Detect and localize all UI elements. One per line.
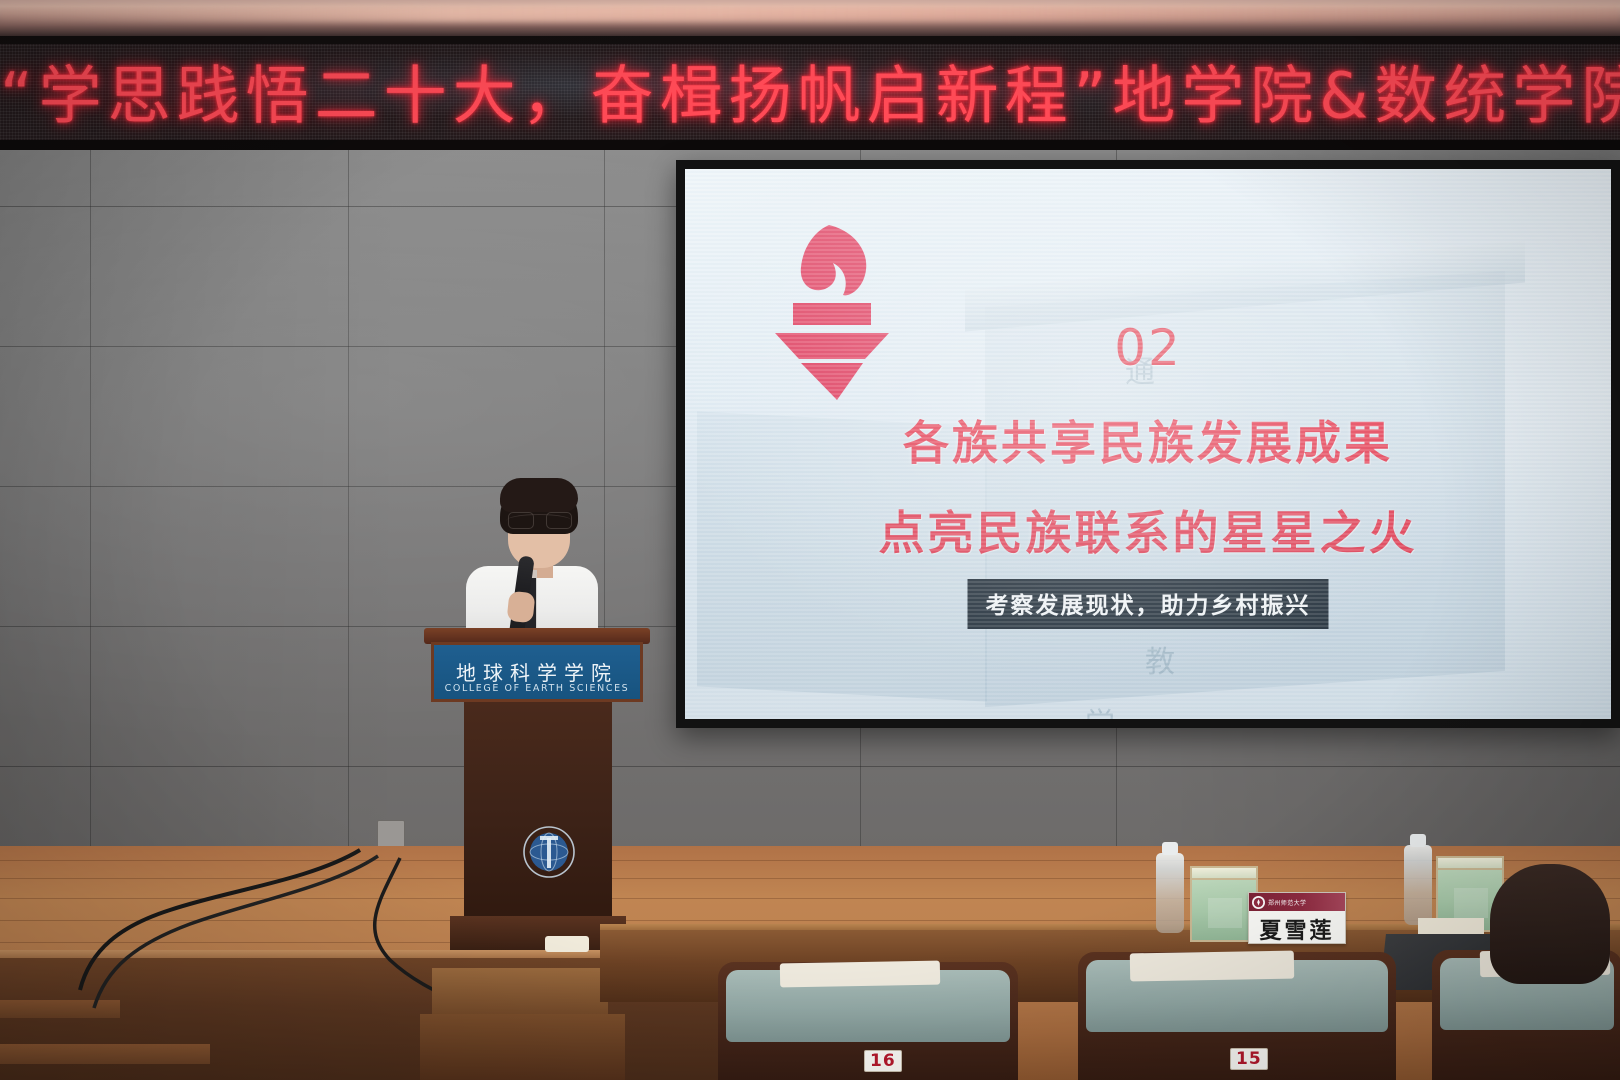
podium-plate-cn: 地球科学学院: [434, 657, 640, 686]
name-card-header: 郑州师范大学: [1249, 893, 1345, 911]
led-banner-text: “学思践悟二十大，奋楫扬帆启新程”地学院&数统学院: [0, 65, 1620, 128]
seat-16[interactable]: 16: [718, 962, 1018, 1080]
podium-plate-en: COLLEGE OF EARTH SCIENCES: [434, 683, 640, 694]
seat-number: 15: [1230, 1048, 1268, 1070]
ceiling-light-glow: [0, 6, 1620, 22]
ceiling: [0, 0, 1620, 46]
projection-screen: 通 教 学 02 各族共享民族发展成果 点亮民族联系的星星之火 考察发展现状，助…: [685, 169, 1611, 719]
building-sign-char-3: 学: [1085, 699, 1119, 719]
photo-scene: “学思践悟二十大，奋楫扬帆启新程”地学院&数统学院 通 教 学: [0, 0, 1620, 1080]
glasses-bridge: [506, 514, 572, 528]
water-bottle[interactable]: [1156, 853, 1184, 933]
slide-section-number: 02: [685, 319, 1611, 377]
bottle-cap: [1410, 834, 1426, 847]
presenter-hand: [507, 591, 536, 624]
gift-box-label: [1454, 888, 1488, 918]
projection-screen-frame: 通 教 学 02 各族共享民族发展成果 点亮民族联系的星星之火 考察发展现状，助…: [676, 160, 1620, 728]
water-bottle[interactable]: [1404, 845, 1432, 925]
gift-box-label: [1208, 898, 1242, 928]
gift-box-lid: [1436, 856, 1504, 870]
slide-headline-2: 点亮民族联系的星星之火: [685, 497, 1611, 563]
university-logo-icon: [1252, 896, 1265, 909]
led-banner: “学思践悟二十大，奋楫扬帆启新程”地学院&数统学院: [0, 44, 1620, 148]
building-sign-char-2: 教: [1145, 637, 1179, 681]
audience-head: [1490, 864, 1610, 984]
name-card-university: 郑州师范大学: [1268, 898, 1306, 907]
presenter-fringe: [500, 478, 578, 512]
name-card[interactable]: 郑州师范大学 夏雪莲: [1248, 892, 1346, 944]
name-card-name: 夏雪莲: [1249, 913, 1345, 945]
seat-towel: [780, 961, 940, 988]
slide-subtitle: 考察发展现状，助力乡村振兴: [968, 579, 1329, 629]
paper-sheet[interactable]: [1418, 918, 1484, 934]
paper-sheet[interactable]: [545, 936, 589, 952]
gift-box-lid: [1190, 866, 1258, 880]
bottle-cap: [1162, 842, 1178, 855]
podium-name-plate: 地球科学学院 COLLEGE OF EARTH SCIENCES: [431, 642, 643, 702]
slide-headline-1: 各族共享民族发展成果: [685, 407, 1611, 473]
seat-number: 16: [864, 1050, 902, 1072]
seat-towel: [1130, 951, 1294, 982]
side-desk-front: [420, 1014, 625, 1080]
seat-15[interactable]: 15: [1078, 952, 1396, 1080]
